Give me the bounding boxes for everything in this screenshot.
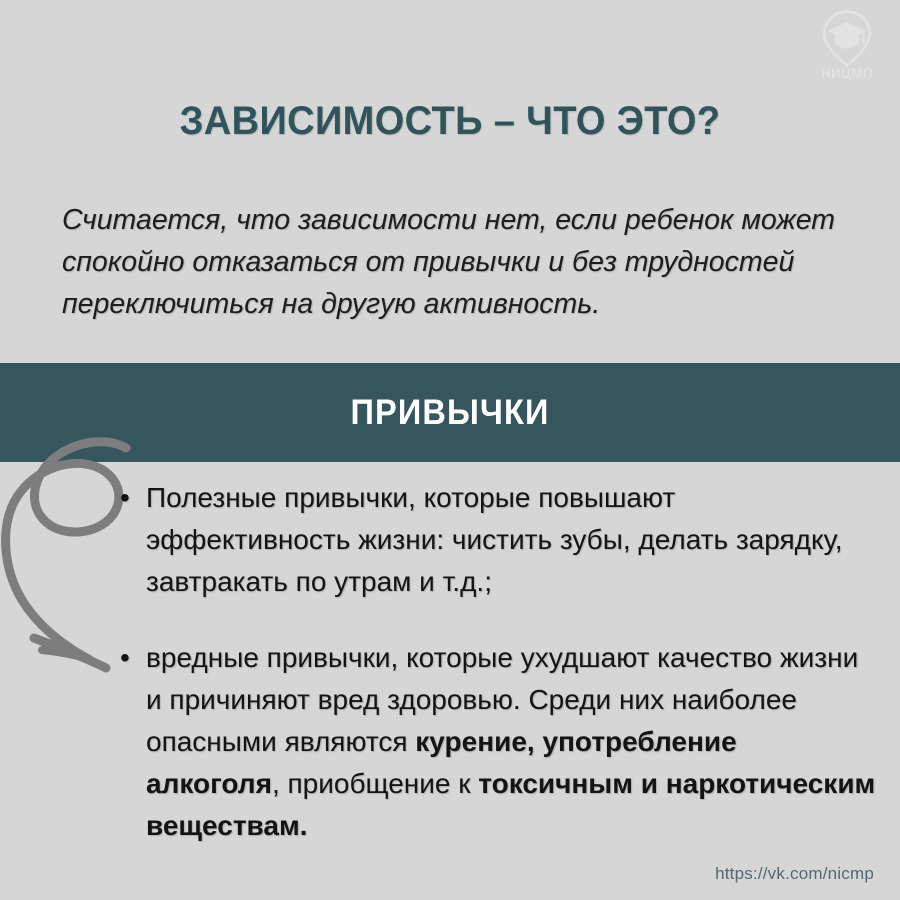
list-item: • вредные привычки, которые ухудшают кач… [118, 637, 878, 847]
section-band: ПРИВЫЧКИ [0, 363, 900, 462]
slide-canvas: НИЦМП ЗАВИСИМОСТЬ – ЧТО ЭТО? Считается, … [0, 0, 900, 900]
logo-wordmark: НИЦМП [811, 65, 883, 81]
nicmp-logo: НИЦМП [808, 10, 886, 92]
footer-url: https://vk.com/nicmp [715, 864, 874, 884]
list-item-text-1: Полезные привычки, которые повышают эффе… [146, 482, 843, 597]
location-pin-graduation-cap-icon [819, 10, 875, 68]
habits-bullet-list: • Полезные привычки, которые повышают эф… [118, 477, 878, 847]
bullet-marker: • [120, 477, 130, 519]
list-item: • Полезные привычки, которые повышают эф… [118, 477, 878, 603]
list-item-text-2: вредные привычки, которые ухудшают качес… [146, 642, 875, 841]
intro-paragraph: Считается, что зависимости нет, если реб… [62, 199, 852, 325]
bullet-marker: • [120, 637, 130, 679]
section-heading: ПРИВЫЧКИ [32, 393, 869, 433]
page-title: ЗАВИСИМОСТЬ – ЧТО ЭТО? [23, 99, 878, 144]
